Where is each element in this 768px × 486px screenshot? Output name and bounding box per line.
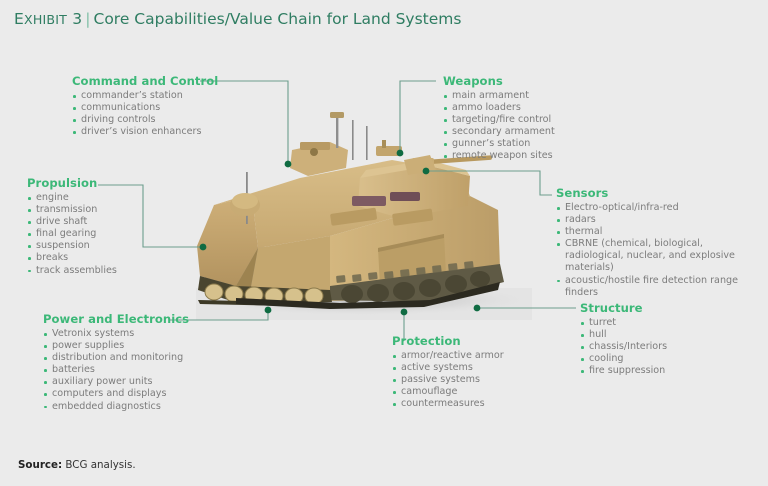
callout-list-command-and-control: commander’s station communications drivi… xyxy=(72,90,287,138)
list-item: engine xyxy=(27,192,197,204)
list-item: batteries xyxy=(43,364,258,376)
list-item: active systems xyxy=(392,362,572,374)
leader-line-weapons xyxy=(400,81,436,152)
leader-dot-protection xyxy=(401,309,408,316)
callout-power-and-electronics: Power and Electronics Vetronix systems p… xyxy=(43,312,258,413)
list-item: chassis/Interiors xyxy=(580,341,750,353)
list-item: embedded diagnostics xyxy=(43,401,258,413)
list-item: thermal xyxy=(556,226,761,238)
list-item: acoustic/hostile fire detection range fi… xyxy=(556,275,761,299)
list-item: turret xyxy=(580,317,750,329)
leader-dot-weapons xyxy=(397,150,404,157)
callout-heading-structure: Structure xyxy=(580,301,750,315)
list-item: gunner’s station xyxy=(443,138,643,150)
source-note: Source: BCG analysis. xyxy=(18,459,136,471)
list-item: remote weapon sites xyxy=(443,150,643,162)
callout-weapons: Weapons main armament ammo loaders targe… xyxy=(443,74,643,163)
list-item: communications xyxy=(72,102,287,114)
list-item: armor/reactive armor xyxy=(392,350,572,362)
list-item: final gearing xyxy=(27,228,197,240)
list-item: targeting/fire control xyxy=(443,114,643,126)
leader-dot-power-and-electronics xyxy=(265,307,272,314)
list-item: main armament xyxy=(443,90,643,102)
leader-dot-propulsion xyxy=(200,244,207,251)
exhibit-page: EXHIBIT 3|Core Capabilities/Value Chain … xyxy=(0,0,768,486)
list-item: drive shaft xyxy=(27,216,197,228)
list-item: commander’s station xyxy=(72,90,287,102)
callout-heading-protection: Protection xyxy=(392,334,572,348)
leader-dot-sensors xyxy=(423,168,430,175)
callout-propulsion: Propulsion engine transmission drive sha… xyxy=(27,176,197,277)
leader-dot-structure xyxy=(474,305,481,312)
callout-heading-weapons: Weapons xyxy=(443,74,643,88)
list-item: radars xyxy=(556,214,761,226)
callout-heading-power-and-electronics: Power and Electronics xyxy=(43,312,258,326)
list-item: hull xyxy=(580,329,750,341)
callout-sensors: Sensors Electro-optical/infra-red radars… xyxy=(556,186,761,299)
callout-list-sensors: Electro-optical/infra-red radars thermal… xyxy=(556,202,761,299)
source-text: BCG analysis. xyxy=(62,459,136,471)
list-item: ammo loaders xyxy=(443,102,643,114)
callout-heading-command-and-control: Command and Control xyxy=(72,74,287,88)
callout-list-propulsion: engine transmission drive shaft final ge… xyxy=(27,192,197,277)
callout-protection: Protection armor/reactive armor active s… xyxy=(392,334,572,410)
callout-list-power-and-electronics: Vetronix systems power supplies distribu… xyxy=(43,328,258,413)
callout-structure: Structure turret hull chassis/Interiors … xyxy=(580,301,750,377)
list-item: auxiliary power units xyxy=(43,376,258,388)
list-item: CBRNE (chemical, biological, radiologica… xyxy=(556,238,761,274)
diagram-canvas: Command and Control commander’s station … xyxy=(0,0,768,486)
list-item: Electro-optical/infra-red xyxy=(556,202,761,214)
callout-heading-propulsion: Propulsion xyxy=(27,176,197,190)
list-item: cooling xyxy=(580,353,750,365)
list-item: fire suppression xyxy=(580,365,750,377)
leader-dot-command-and-control xyxy=(285,161,292,168)
callout-heading-sensors: Sensors xyxy=(556,186,761,200)
list-item: countermeasures xyxy=(392,398,572,410)
list-item: power supplies xyxy=(43,340,258,352)
source-label: Source: xyxy=(18,459,62,471)
callout-list-structure: turret hull chassis/Interiors cooling fi… xyxy=(580,317,750,377)
list-item: driving controls xyxy=(72,114,287,126)
callout-list-protection: armor/reactive armor active systems pass… xyxy=(392,350,572,410)
list-item: secondary armament xyxy=(443,126,643,138)
list-item: computers and displays xyxy=(43,388,258,400)
list-item: transmission xyxy=(27,204,197,216)
list-item: suspension xyxy=(27,240,197,252)
list-item: passive systems xyxy=(392,374,572,386)
leader-line-sensors xyxy=(427,171,552,195)
list-item: breaks xyxy=(27,252,197,264)
list-item: track assemblies xyxy=(27,265,197,277)
list-item: camouflage xyxy=(392,386,572,398)
list-item: distribution and monitoring xyxy=(43,352,258,364)
list-item: Vetronix systems xyxy=(43,328,258,340)
list-item: driver’s vision enhancers xyxy=(72,126,287,138)
callout-command-and-control: Command and Control commander’s station … xyxy=(72,74,287,138)
callout-list-weapons: main armament ammo loaders targeting/fir… xyxy=(443,90,643,163)
